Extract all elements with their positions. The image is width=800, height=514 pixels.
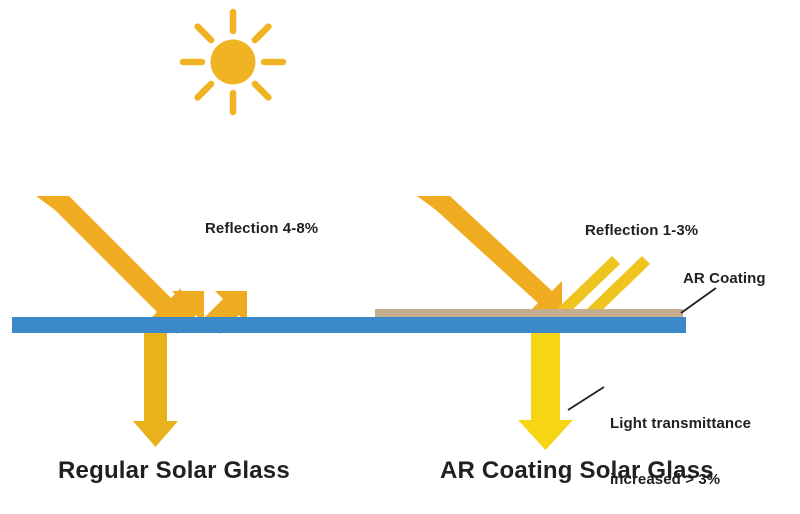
diagram-canvas: Reflection 4-8% Reflection 1-3% AR Coati… [0, 0, 800, 514]
ar-coating-leader-line [681, 288, 716, 313]
glass-bar-left [12, 317, 363, 333]
reflection-right-label: Reflection 1-3% [585, 222, 698, 241]
incident-light-arrow-left [36, 196, 181, 322]
reflected-light-arrows-right [556, 256, 650, 318]
incident-light-arrow-right [417, 196, 562, 313]
reflection-left-label: Reflection 4-8% [205, 220, 318, 239]
ar-coating-label: AR Coating [683, 270, 766, 289]
light-transmittance-label: Light transmittance increased > 3% [610, 377, 751, 514]
regular-solar-glass-title: Regular Solar Glass [58, 456, 290, 486]
glass-bar-right [363, 317, 686, 333]
ar-coating-solar-glass-title: AR Coating Solar Glass [440, 456, 714, 486]
transmitted-light-arrow-right [518, 330, 573, 450]
light-transmittance-label-line1: Light transmittance [610, 415, 751, 434]
transmitted-light-arrow-left [133, 330, 178, 447]
transmittance-leader-line [568, 387, 604, 410]
sun-icon [183, 12, 283, 112]
